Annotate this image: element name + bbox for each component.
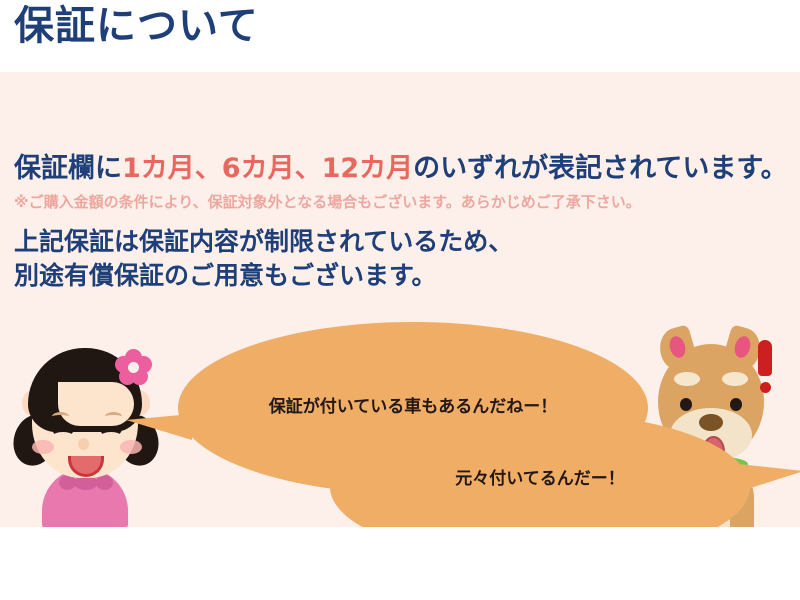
slide-canvas: 保証について 保証欄に1カ月、6カ月、12カ月のいずれが表記されています。 ※ご… <box>0 0 800 600</box>
warranty-body-line-2: 別途有償保証のご用意もございます。 <box>14 262 437 290</box>
girl-eye-left <box>50 428 76 444</box>
speech-bubble-text: 元々付いてるんだー！ <box>330 464 750 489</box>
speech-bubble-tail <box>126 414 192 440</box>
girl-ribbon-icon <box>74 476 98 490</box>
girl-eye-right <box>98 428 124 444</box>
flower-hairpin-icon <box>114 348 152 386</box>
lead-prefix: 保証欄に <box>14 153 122 184</box>
lead-suffix: のいずれが表記されています。 <box>413 153 788 184</box>
speech-bubble-text: 保証が付いている車もあるんだねー！ <box>178 392 648 417</box>
lead-months-1: 1カ月、 <box>122 153 222 184</box>
dog-eye-right <box>730 398 742 411</box>
girl-eyebrow-right <box>105 412 122 421</box>
girl-nose <box>78 438 89 450</box>
warranty-body-line-1: 上記保証は保証内容が制限されているため、 <box>14 228 513 256</box>
warranty-lead-text: 保証欄に1カ月、6カ月、12カ月のいずれが表記されています。 <box>14 154 788 184</box>
dog-eyebrow-right <box>722 372 748 386</box>
girl-forehead <box>58 382 134 426</box>
exclamation-mark-icon <box>758 340 774 392</box>
dog-eye-left <box>680 398 692 411</box>
girl-eyebrow-left <box>52 412 69 421</box>
content-band: 保証欄に1カ月、6カ月、12カ月のいずれが表記されています。 ※ご購入金額の条件… <box>0 72 800 527</box>
lead-months-6: 6カ月、 <box>222 153 322 184</box>
flower-center <box>128 362 139 373</box>
dog-eyebrow-left <box>674 372 700 386</box>
page-title: 保証について <box>14 6 259 46</box>
lead-months-12: 12カ月 <box>322 153 414 184</box>
exclamation-bar <box>758 340 772 376</box>
exclamation-dot <box>760 382 771 393</box>
warranty-disclaimer-note: ※ご購入金額の条件により、保証対象外となる場合もございます。あらかじめご了承下さ… <box>14 194 641 211</box>
